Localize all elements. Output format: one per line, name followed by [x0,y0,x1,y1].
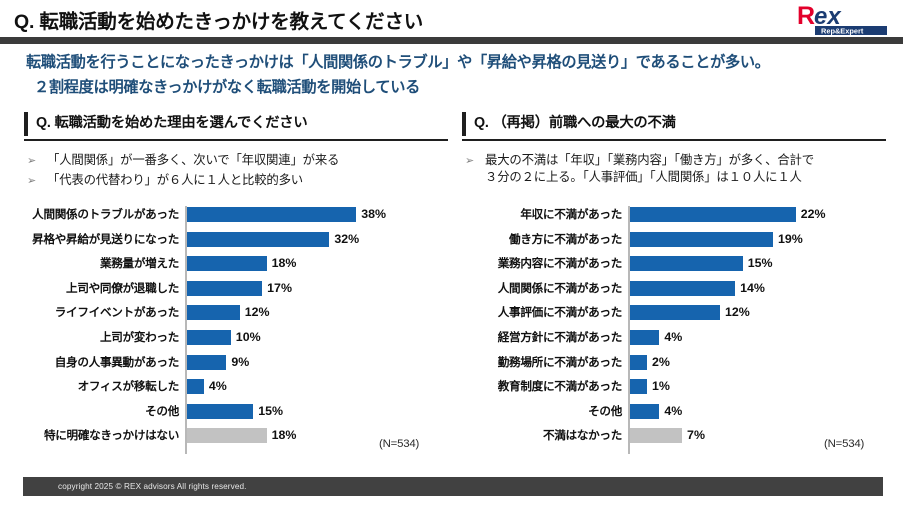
chart-row: 経営方針に不満があった4% [462,329,892,354]
chart-bar [186,330,231,345]
chart-bar [629,281,735,296]
chart-value-label: 1% [652,377,670,395]
chart-value-label: 15% [748,254,773,272]
chart-bar [629,232,773,247]
chart-bar [186,256,267,271]
chart-bar [629,305,720,320]
chart-category-label: 年収に不満があった [462,206,622,223]
chart-bar [186,207,356,222]
chart-row: 人間関係のトラブルがあった38% [24,206,454,231]
left-panel-bullets: ➢ 「人間関係」が一番多く、次いで「年収関連」が来る ➢ 「代表の代替わり」が６… [24,152,448,190]
chart-row: 勤務場所に不満があった2% [462,354,892,379]
chart-category-label: 業務内容に不満があった [462,255,622,272]
footer-bar: copyright 2025 © REX advisors All rights… [23,477,883,496]
chart-row: 業務量が増えた18% [24,255,454,280]
chart-value-label: 14% [740,279,765,297]
chart-row: 人事評価に不満があった12% [462,304,892,329]
right-panel-heading-text: Q. （再掲）前職への最大の不満 [474,112,886,135]
chart-bar [186,404,253,419]
chart-row: 上司が変わった10% [24,329,454,354]
right-panel-underline [462,139,886,141]
chart-value-label: 4% [664,328,682,346]
bullet-text-line-2: ３分の２に上る。「人事評価」「人間関係」は１０人に１人 [485,169,886,186]
right-panel-heading: Q. （再掲）前職への最大の不満 [462,112,886,138]
chart-row: オフィスが移転した4% [24,378,454,403]
chart-bar [186,305,240,320]
chart-category-label: ライフイベントがあった [24,304,179,321]
left-panel-heading: Q. 転職活動を始めた理由を選んでください [24,112,448,138]
left-chart-axis [185,206,187,454]
chart-row: その他15% [24,403,454,428]
chart-value-label: 9% [231,353,249,371]
bullet-arrow-icon: ➢ [462,152,485,170]
chart-row: 昇格や昇給が見送りになった32% [24,231,454,256]
right-panel-bullets: ➢ 最大の不満は「年収」「業務内容」「働き方」が多く、合計で ３分の２に上る。「… [462,152,886,186]
list-item: ➢ 「人間関係」が一番多く、次いで「年収関連」が来る [24,152,448,170]
svg-text:Rep&Expert: Rep&Expert [821,27,864,36]
slide-header: Q. 転職活動を始めたきっかけを教えてください R ex Rep&Expert [0,0,903,38]
chart-category-label: 自身の人事異動があった [24,354,179,371]
chart-value-label: 18% [272,426,297,444]
chart-bar [186,428,267,443]
rex-logo: R ex Rep&Expert [797,2,893,36]
chart-row: 上司や同僚が退職した17% [24,280,454,305]
left-panel-underline [24,139,448,141]
chart-bar [629,355,647,370]
chart-value-label: 32% [334,230,359,248]
chart-value-label: 17% [267,279,292,297]
chart-category-label: オフィスが移転した [24,378,179,395]
left-chart-sample-size: (N=534) [379,438,419,450]
right-chart-sample-size: (N=534) [824,438,864,450]
chart-row: その他4% [462,403,892,428]
chart-bar [629,207,796,222]
chart-value-label: 7% [687,426,705,444]
lead-line-2: ２割程度は明確なきっかけがなく転職活動を開始している [34,75,888,100]
chart-category-label: 経営方針に不満があった [462,329,622,346]
chart-value-label: 4% [664,402,682,420]
chart-value-label: 22% [801,205,826,223]
chart-row: ライフイベントがあった12% [24,304,454,329]
bullet-arrow-icon: ➢ [24,172,47,190]
chart-bar [186,355,226,370]
right-chart-axis [628,206,630,454]
chart-value-label: 12% [245,303,270,321]
chart-row: 業務内容に不満があった15% [462,255,892,280]
rex-logo-icon: R ex Rep&Expert [797,2,893,36]
copyright-text: copyright 2025 © REX advisors All rights… [58,480,247,493]
page-title: Q. 転職活動を始めたきっかけを教えてください [14,5,423,34]
chart-category-label: その他 [24,403,179,420]
chart-category-label: 教育制度に不満があった [462,378,622,395]
svg-text:R: R [797,2,815,30]
chart-bar [629,404,659,419]
chart-bar [186,281,262,296]
left-panel-heading-text: Q. 転職活動を始めた理由を選んでください [36,112,448,135]
chart-category-label: 昇格や昇給が見送りになった [24,231,179,248]
chart-row: 働き方に不満があった19% [462,231,892,256]
chart-category-label: 人事評価に不満があった [462,304,622,321]
chart-value-label: 2% [652,353,670,371]
chart-row: 教育制度に不満があった1% [462,378,892,403]
chart-category-label: 上司が変わった [24,329,179,346]
chart-category-label: 特に明確なきっかけはない [24,427,179,444]
chart-row: 年収に不満があった22% [462,206,892,231]
chart-category-label: 上司や同僚が退職した [24,280,179,297]
list-item: ➢ 「代表の代替わり」が６人に１人と比較的多い [24,172,448,190]
chart-value-label: 19% [778,230,803,248]
bullet-text-line-1: 最大の不満は「年収」「業務内容」「働き方」が多く、合計で [485,153,814,167]
chart-category-label: 人間関係のトラブルがあった [24,206,179,223]
bullet-arrow-icon: ➢ [24,152,47,170]
lead-summary: 転職活動を行うことになったきっかけは「人間関係のトラブル」や「昇給や昇格の見送り… [26,50,888,100]
chart-value-label: 18% [272,254,297,272]
chart-bar [186,379,204,394]
bullet-text: 「代表の代替わり」が６人に１人と比較的多い [47,172,448,189]
chart-category-label: その他 [462,403,622,420]
list-item: ➢ 最大の不満は「年収」「業務内容」「働き方」が多く、合計で ３分の２に上る。「… [462,152,886,186]
chart-bar [629,330,659,345]
bullet-text: 最大の不満は「年収」「業務内容」「働き方」が多く、合計で ３分の２に上る。「人事… [485,152,886,186]
chart-category-label: 働き方に不満があった [462,231,622,248]
chart-row: 人間関係に不満があった14% [462,280,892,305]
left-panel: Q. 転職活動を始めた理由を選んでください ➢ 「人間関係」が一番多く、次いで「… [24,112,448,192]
lead-line-1: 転職活動を行うことになったきっかけは「人間関係のトラブル」や「昇給や昇格の見送り… [26,54,770,71]
chart-bar [629,428,682,443]
chart-category-label: 業務量が増えた [24,255,179,272]
chart-bar [629,379,647,394]
chart-bar [629,256,743,271]
chart-bar [186,232,329,247]
chart-category-label: 人間関係に不満があった [462,280,622,297]
chart-value-label: 10% [236,328,261,346]
chart-value-label: 4% [209,377,227,395]
bullet-text: 「人間関係」が一番多く、次いで「年収関連」が来る [47,152,448,169]
chart-category-label: 勤務場所に不満があった [462,354,622,371]
chart-row: 自身の人事異動があった9% [24,354,454,379]
chart-value-label: 38% [361,205,386,223]
chart-value-label: 15% [258,402,283,420]
right-panel: Q. （再掲）前職への最大の不満 ➢ 最大の不満は「年収」「業務内容」「働き方」… [462,112,886,188]
chart-value-label: 12% [725,303,750,321]
header-divider [0,37,903,44]
chart-category-label: 不満はなかった [462,427,622,444]
